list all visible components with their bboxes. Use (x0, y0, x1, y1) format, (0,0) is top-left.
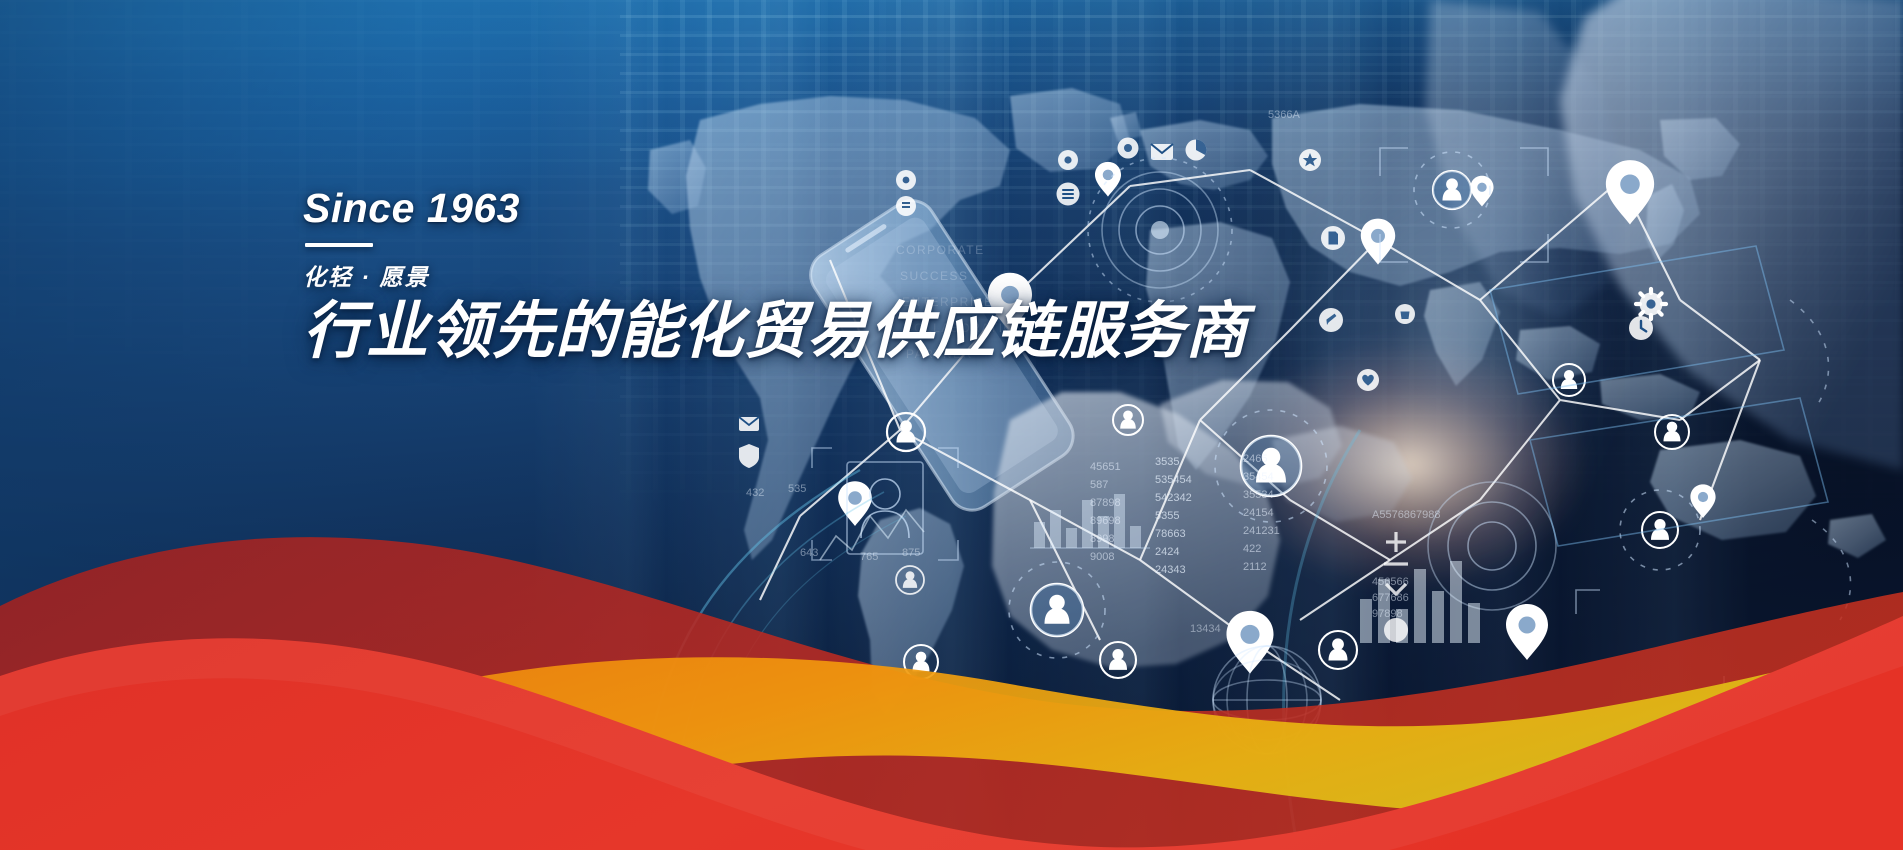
page-title: 行业领先的能化贸易供应链服务商 (303, 299, 1253, 366)
wave-decoration (0, 470, 1903, 850)
divider-rule (305, 243, 373, 247)
hero-banner: 3535535454 5423425355 786632424 24343 24… (0, 0, 1903, 850)
hero-copy: Since 1963 化轻 · 愿景 行业领先的能化贸易供应链服务商 (303, 188, 1253, 366)
eyebrow-since: Since 1963 (303, 188, 1253, 229)
subtitle-vision: 化轻 · 愿景 (303, 258, 1253, 292)
